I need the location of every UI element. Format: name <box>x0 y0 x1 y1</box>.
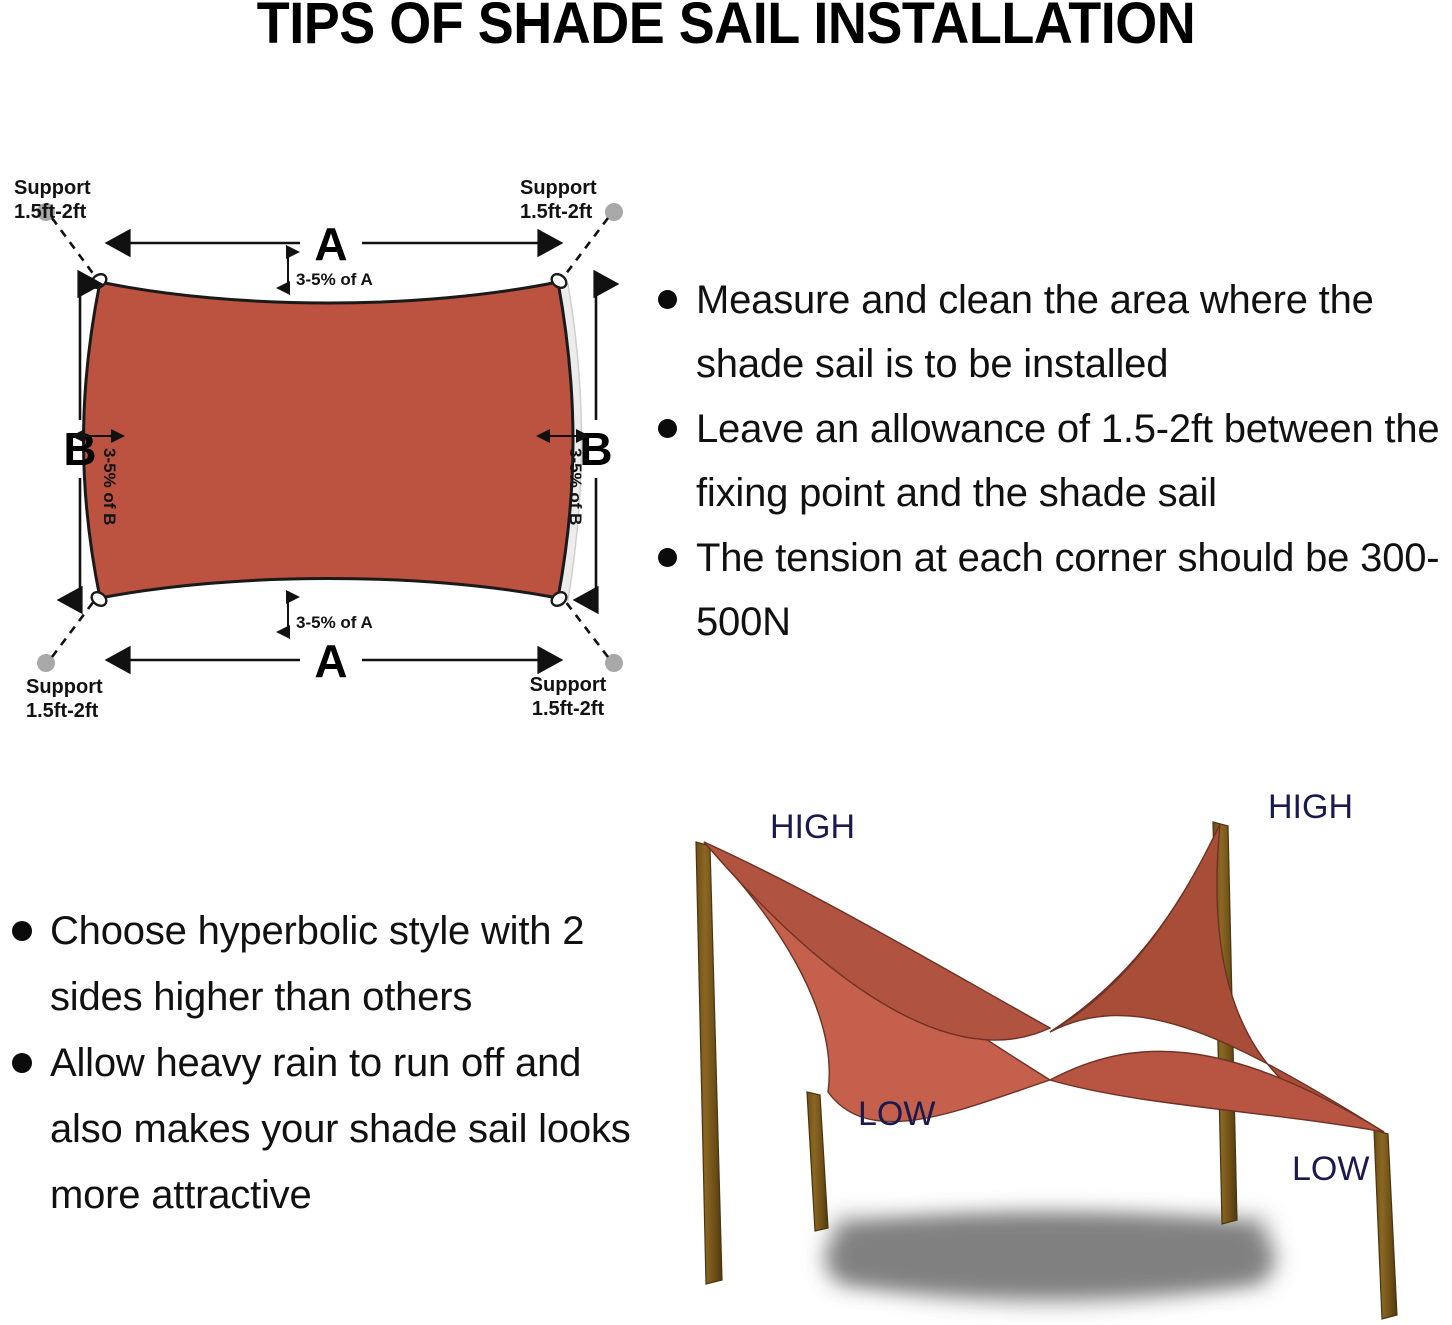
support-label-top-left-line2: 1.5ft-2ft <box>14 201 87 223</box>
list-item: Allow heavy rain to run off and also mak… <box>2 1030 642 1228</box>
support-label-bottom-right-line1: Support <box>530 674 607 696</box>
installation-tips-list-bottom: Choose hyperbolic style with 2 sides hig… <box>2 898 642 1228</box>
label-low-right: LOW <box>1292 1150 1369 1188</box>
support-label-top-right-line2: 1.5ft-2ft <box>520 201 593 223</box>
label-high-left: HIGH <box>770 808 855 846</box>
list-item: Choose hyperbolic style with 2 sides hig… <box>2 898 642 1030</box>
hyperbolic-sail-diagram: HIGH HIGH LOW LOW <box>660 780 1452 1325</box>
support-label-bottom-left-line1: Support <box>26 676 103 698</box>
support-label-top-right-line1: Support <box>520 177 597 199</box>
installation-tips-list-top: Measure and clean the area where the sha… <box>648 268 1452 655</box>
curvature-label-top: 3-5% of A <box>296 270 373 289</box>
curvature-label-right: 3-5% of B <box>566 448 585 525</box>
rectangular-sail-diagram: A A B B 3-5% of A 3-5% of A 3-5% of B <box>0 160 660 740</box>
shade-sail-fabric <box>84 282 574 598</box>
list-item: Leave an allowance of 1.5-2ft between th… <box>648 397 1452 525</box>
post-front-right <box>1374 1130 1397 1319</box>
rope-top-left <box>52 218 97 279</box>
support-label-top-left-line1: Support <box>14 177 91 199</box>
rope-bottom-left <box>52 597 97 657</box>
dimension-label-a-bottom: A <box>314 635 347 687</box>
ground-shadow-slab <box>835 1220 1265 1282</box>
label-high-right: HIGH <box>1268 788 1353 826</box>
page-title: TIPS OF SHADE SAIL INSTALLATION <box>51 0 1401 55</box>
list-item: The tension at each corner should be 300… <box>648 526 1452 654</box>
sail-surface-center <box>1050 1051 1384 1132</box>
support-label-bottom-right-line2: 1.5ft-2ft <box>532 698 605 720</box>
curvature-label-bottom: 3-5% of A <box>296 613 373 632</box>
curvature-label-left: 3-5% of B <box>100 448 119 525</box>
support-label-bottom-left-line2: 1.5ft-2ft <box>26 700 99 722</box>
rope-top-right <box>562 218 608 279</box>
post-back-left <box>696 842 722 1284</box>
dimension-label-b-left: B <box>63 423 96 475</box>
list-item: Measure and clean the area where the sha… <box>648 268 1452 396</box>
rope-bottom-right <box>562 597 608 657</box>
infographic-page: TIPS OF SHADE SAIL INSTALLATION <box>0 0 1452 1325</box>
dimension-label-a-top: A <box>314 218 347 270</box>
post-front-left <box>807 1092 828 1231</box>
label-low-left: LOW <box>858 1095 935 1133</box>
